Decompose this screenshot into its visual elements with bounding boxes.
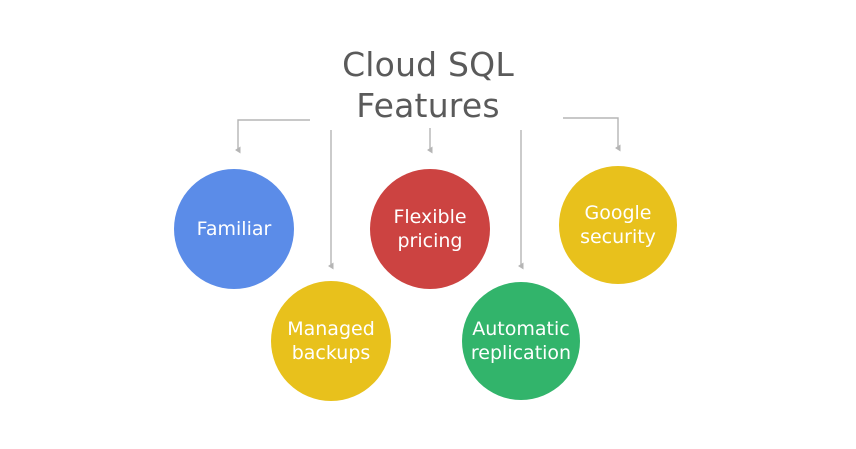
node-flexible-pricing-label: Flexible pricing bbox=[387, 205, 472, 253]
node-flexible-pricing[interactable]: Flexible pricing bbox=[370, 169, 490, 289]
node-automatic-replication[interactable]: Automatic replication bbox=[462, 282, 580, 400]
node-google-security-label: Google security bbox=[574, 201, 662, 249]
node-managed-backups-label: Managed backups bbox=[281, 317, 381, 365]
node-google-security[interactable]: Google security bbox=[559, 166, 677, 284]
node-managed-backups[interactable]: Managed backups bbox=[271, 281, 391, 401]
node-familiar-label: Familiar bbox=[191, 217, 278, 241]
slide-canvas: Cloud SQL Features Familiar Managed back… bbox=[0, 0, 856, 449]
page-title: Cloud SQL Features bbox=[278, 44, 578, 126]
node-familiar[interactable]: Familiar bbox=[174, 169, 294, 289]
node-automatic-replication-label: Automatic replication bbox=[465, 317, 577, 365]
